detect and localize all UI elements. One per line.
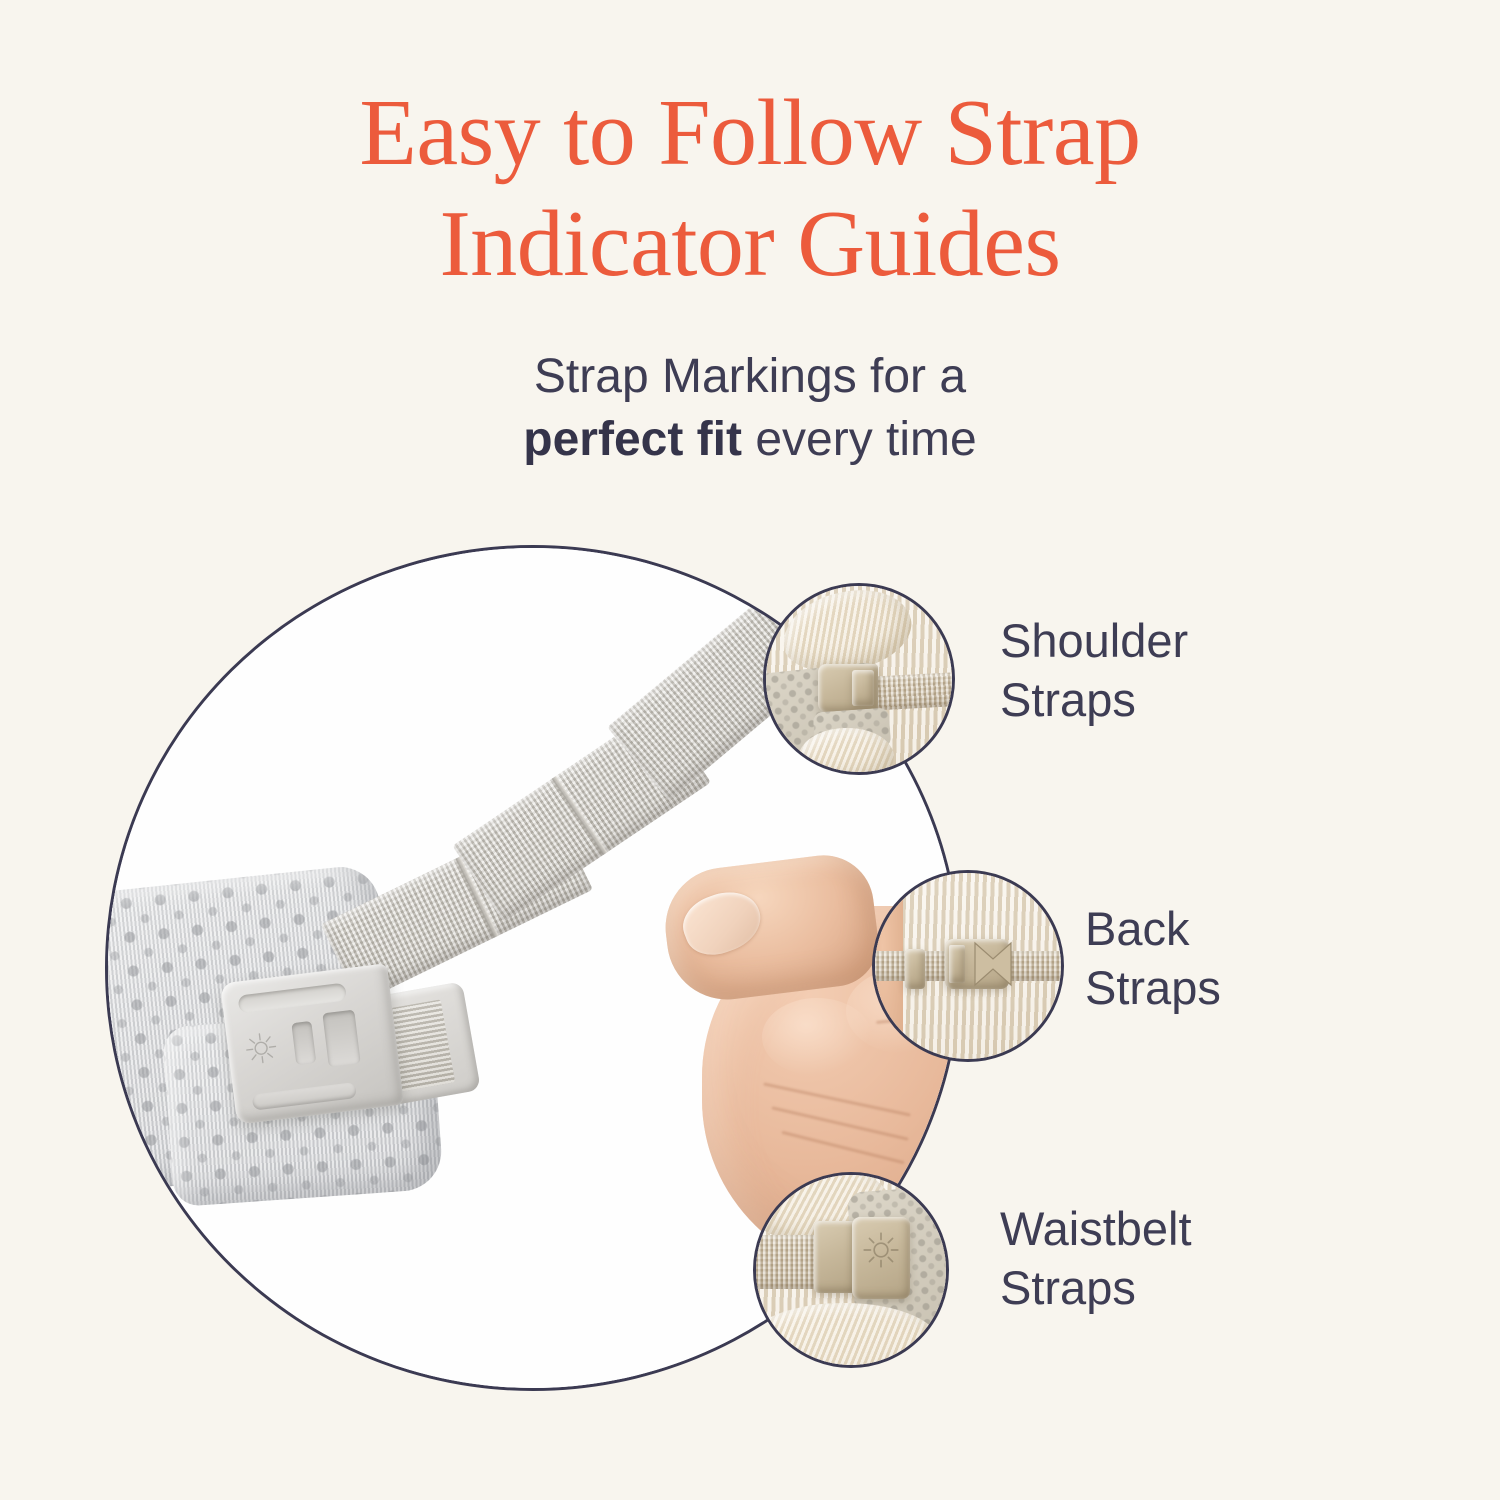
sun-icon xyxy=(242,1029,280,1067)
callout-label-back: Back Straps xyxy=(1085,900,1221,1018)
callout-circle-back[interactable] xyxy=(872,870,1064,1062)
back-buckle-slot xyxy=(949,945,965,983)
shoulder-buckle-tongue xyxy=(852,670,874,706)
page-title-line-1: Easy to Follow Strap xyxy=(0,78,1500,189)
page-subtitle-line-2-suffix: every time xyxy=(742,413,977,466)
shoulder-webbing xyxy=(865,671,955,711)
infographic-page: Easy to Follow Strap Indicator Guides St… xyxy=(0,0,1500,1500)
page-subtitle-emphasis: perfect fit xyxy=(523,413,742,466)
strap-seam-tick xyxy=(552,776,608,855)
illustration-stage: Shoulder Straps Back Straps Waistbelt St… xyxy=(0,500,1500,1500)
back-strap-keeper xyxy=(905,949,925,989)
thumbnail xyxy=(675,882,769,964)
buckle-bottom-lip xyxy=(252,1082,357,1111)
back-buckle-release-icon xyxy=(971,935,1015,993)
buckle-top-lip xyxy=(238,983,347,1014)
buckle-slot-small xyxy=(291,1021,316,1065)
page-title-line-2: Indicator Guides xyxy=(0,189,1500,300)
page-subtitle: Strap Markings for a perfect fit every t… xyxy=(0,345,1500,472)
page-title: Easy to Follow Strap Indicator Guides xyxy=(0,78,1500,300)
sun-icon xyxy=(860,1229,902,1271)
page-subtitle-line-1: Strap Markings for a xyxy=(0,345,1500,408)
page-subtitle-line-2: perfect fit every time xyxy=(0,408,1500,471)
callout-circle-waistbelt[interactable] xyxy=(753,1172,949,1368)
callout-circle-shoulder[interactable] xyxy=(763,583,955,775)
buckle-slot-large xyxy=(322,1010,360,1067)
callout-label-waistbelt: Waistbelt Straps xyxy=(1000,1200,1192,1318)
thumb xyxy=(659,850,884,1007)
callout-label-shoulder: Shoulder Straps xyxy=(1000,612,1188,730)
waistbelt-buckle xyxy=(220,963,404,1124)
